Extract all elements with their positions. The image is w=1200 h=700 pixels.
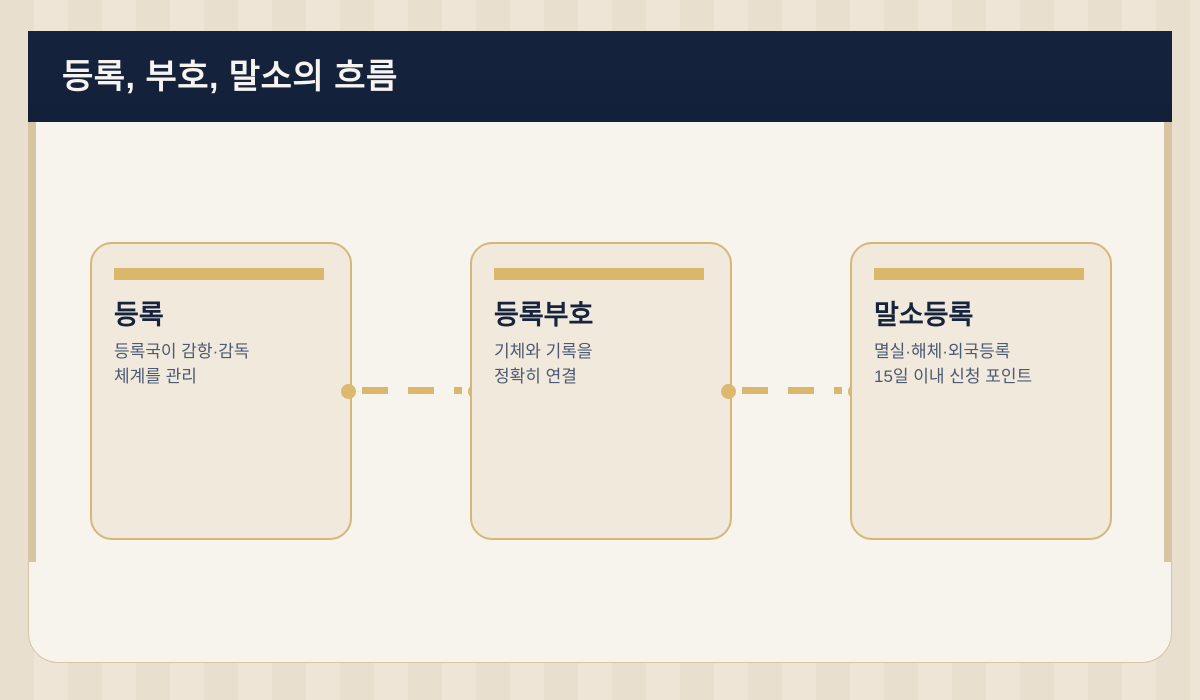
panel-left-edge-accent	[29, 122, 36, 562]
card-description-2: 기체와 기록을 정확히 연결	[494, 340, 708, 389]
flow-connector-2	[728, 390, 856, 392]
page-title: 등록, 부호, 말소의 흐름	[28, 60, 398, 94]
card-accent-bar-3	[874, 268, 1084, 280]
card-accent-bar-1	[114, 268, 324, 280]
flow-step-card-3[interactable]: 말소등록 멸실·해체·외국등록 15일 이내 신청 포인트	[850, 242, 1112, 540]
flow-step-card-2[interactable]: 등록부호 기체와 기록을 정확히 연결	[470, 242, 732, 540]
content-panel: 등록 등록국이 감항·감독 체계를 관리 등록부호 기체와 기록을 정확히 연결	[28, 122, 1172, 663]
flow-step-card-1[interactable]: 등록 등록국이 감항·감독 체계를 관리	[90, 242, 352, 540]
connector-dot-icon-start-1	[341, 384, 356, 399]
connector-dot-icon-start-2	[721, 384, 736, 399]
flow-diagram: 등록 등록국이 감항·감독 체계를 관리 등록부호 기체와 기록을 정확히 연결	[90, 242, 1112, 540]
slide-header: 등록, 부호, 말소의 흐름	[28, 31, 1172, 122]
card-description-1: 등록국이 감항·감독 체계를 관리	[114, 340, 328, 389]
card-title-1: 등록	[114, 300, 328, 331]
card-title-3: 말소등록	[874, 300, 1088, 331]
flow-connector-1	[348, 390, 476, 392]
slide: 등록, 부호, 말소의 흐름 등록 등록국이 감항·감독 체계를 관리 등록부호	[28, 31, 1172, 663]
card-description-3: 멸실·해체·외국등록 15일 이내 신청 포인트	[874, 340, 1088, 389]
card-accent-bar-2	[494, 268, 704, 280]
card-title-2: 등록부호	[494, 300, 708, 331]
panel-right-edge-accent	[1164, 122, 1171, 562]
connector-dashed-line-2	[742, 387, 842, 394]
connector-dashed-line-1	[362, 387, 462, 394]
